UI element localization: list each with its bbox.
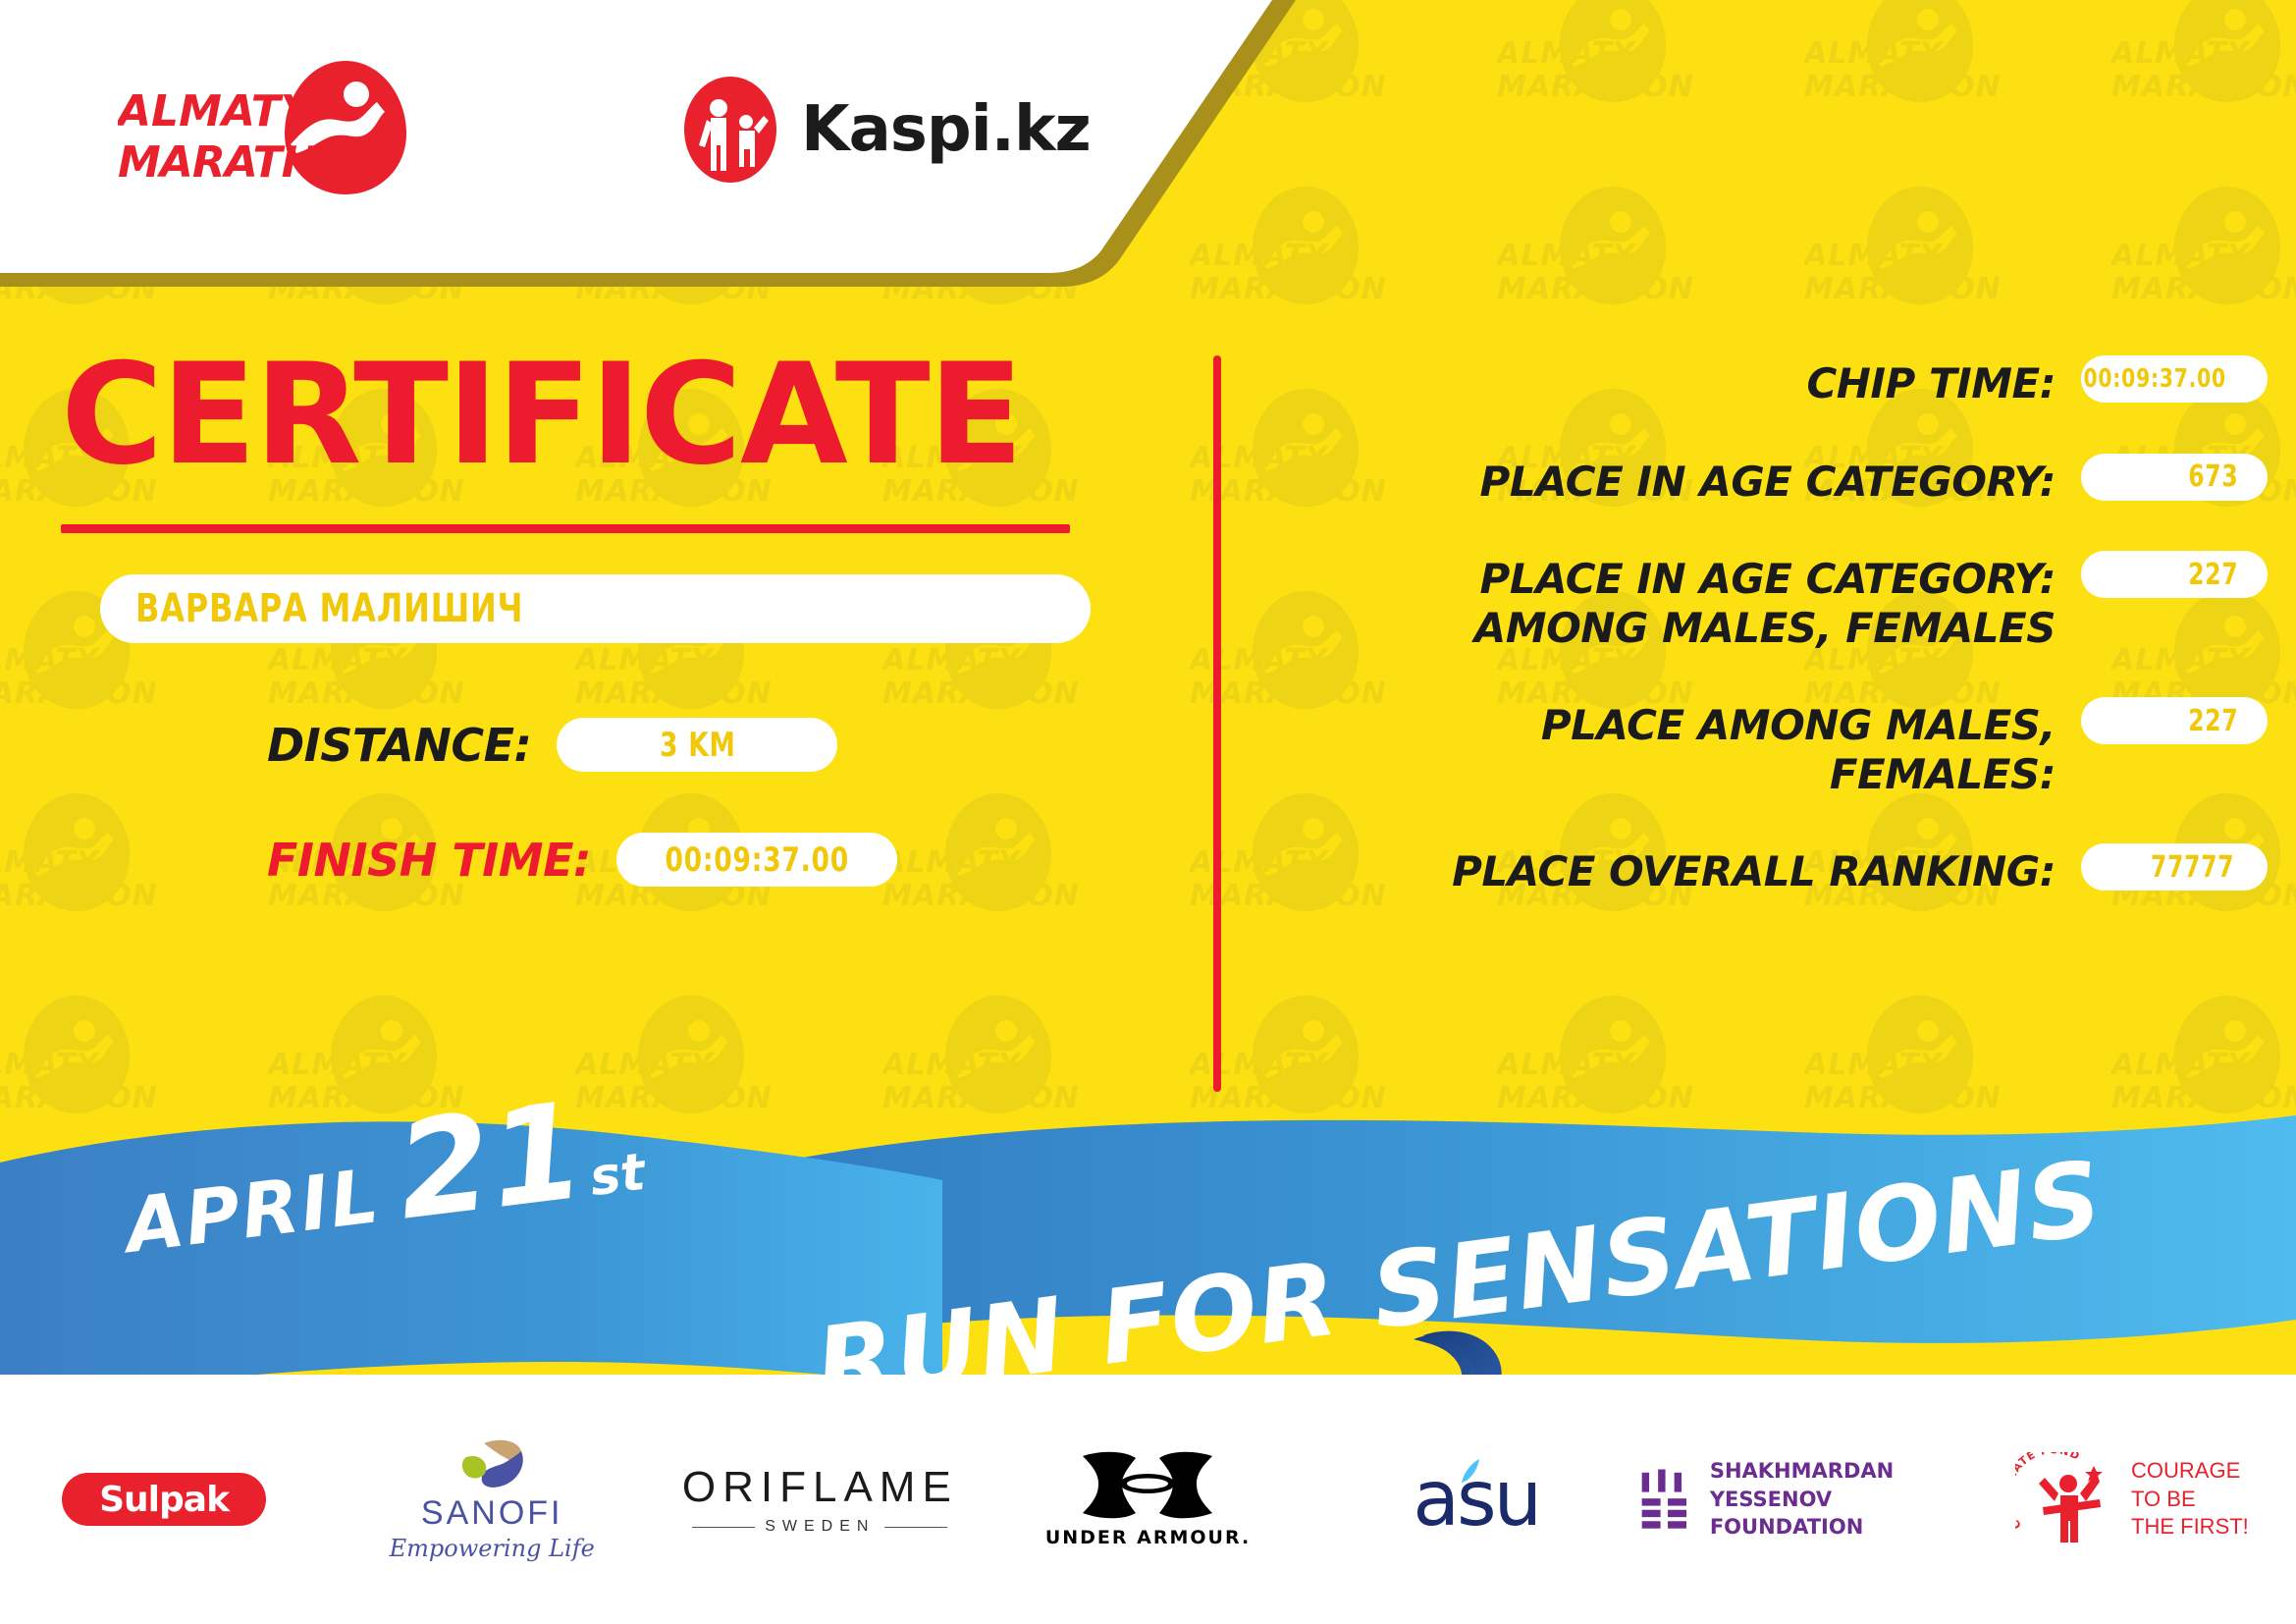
place-age-category-row: PLACE IN AGE CATEGORY: 673 (1276, 454, 2268, 507)
yessenov-line2: FOUNDATION (1710, 1515, 1863, 1539)
sulpak-wordmark: Sulpak (99, 1480, 229, 1520)
svg-text:ALMATY: ALMATY (118, 86, 316, 136)
sponsor-oriflame: ORIFLAME SWEDEN (656, 1463, 984, 1536)
sponsor-sanofi: SANOFI Empowering Life (328, 1437, 656, 1562)
title-divider (61, 524, 1070, 533)
chip-time-field: 00:09:37.00 (2081, 355, 2268, 403)
chip-time-label: CHIP TIME: (1276, 355, 2056, 408)
sponsor-under-armour: UNDER ARMOUR. (984, 1450, 1311, 1548)
oriflame-tagline: SWEDEN (765, 1518, 875, 1536)
results-column: CHIP TIME: 00:09:37.00 PLACE IN AGE CATE… (1276, 355, 2268, 942)
distance-row: DISTANCE: 3 KM (267, 718, 1178, 772)
recipient-name-field: ВАРВАРА МАЛИШИЧ (100, 574, 1091, 643)
place-age-category-label: PLACE IN AGE CATEGORY: (1276, 454, 2056, 507)
oriflame-rule-left (692, 1527, 755, 1528)
asu-swoosh-icon (1458, 1457, 1483, 1487)
finish-time-row: FINISH TIME: 00:09:37.00 (267, 833, 1178, 887)
courage-fund-line2: TO BE (2131, 1487, 2196, 1511)
event-day-suffix: st (587, 1143, 649, 1208)
chip-time-value: 00:09:37.00 (2083, 364, 2225, 394)
sponsor-bar: Sulpak SANOFI Empowering Life ORIFLAME S… (0, 1375, 2296, 1624)
column-divider (1213, 355, 1221, 1092)
svg-text:MARATHON: MARATHON (118, 137, 388, 188)
oriflame-logo: ORIFLAME SWEDEN (682, 1463, 958, 1536)
under-armour-logo: UNDER ARMOUR. (1045, 1450, 1251, 1548)
place-age-category-gender-value: 227 (2189, 558, 2239, 592)
oriflame-wordmark: ORIFLAME (682, 1463, 958, 1512)
yessenov-logo: SHAKHMARDAN YESSENOV FOUNDATION (1640, 1457, 1968, 1541)
yessenov-mark-icon (1640, 1463, 1690, 1536)
courage-fund-line1: COURAGE (2131, 1458, 2240, 1483)
yessenov-wordmark: SHAKHMARDAN YESSENOV FOUNDATION (1710, 1457, 1968, 1541)
place-overall-value: 77777 (2151, 850, 2234, 885)
place-age-category-value: 673 (2189, 460, 2239, 494)
oriflame-subline: SWEDEN (692, 1518, 947, 1536)
place-overall-row: PLACE OVERALL RANKING: 77777 (1276, 843, 2268, 896)
finish-time-value: 00:09:37.00 (665, 840, 848, 880)
place-age-category-gender-label: PLACE IN AGE CATEGORY: AMONG MALES, FEMA… (1276, 551, 2056, 652)
distance-label: DISTANCE: (267, 719, 531, 772)
courage-fund-mark-icon: CORPORATE FUND (2015, 1452, 2117, 1546)
header-logos: ALMATY MARATHON Kaspi.kz (0, 0, 1129, 245)
oriflame-rule-right (884, 1527, 947, 1528)
sponsor-asu: asu (1312, 1461, 1640, 1538)
sanofi-wordmark: SANOFI (421, 1494, 563, 1533)
left-column: CERTIFICATE ВАРВАРА МАЛИШИЧ DISTANCE: 3 … (0, 295, 1178, 887)
almaty-marathon-logo: ALMATY MARATHON (118, 57, 432, 194)
sponsor-sulpak: Sulpak (0, 1473, 328, 1526)
recipient-name-value: ВАРВАРА МАЛИШИЧ (135, 586, 523, 631)
kaspi-logo: Kaspi.kz (677, 77, 1091, 183)
asu-logo: asu (1413, 1461, 1539, 1538)
courage-fund-line3: THE FIRST! (2131, 1514, 2249, 1539)
place-among-gender-value: 227 (2189, 704, 2239, 738)
under-armour-wordmark: UNDER ARMOUR. (1045, 1527, 1251, 1548)
place-age-category-gender-field: 227 (2081, 551, 2268, 598)
place-overall-label: PLACE OVERALL RANKING: (1276, 843, 2056, 896)
sulpak-logo: Sulpak (62, 1473, 266, 1526)
finish-time-field: 00:09:37.00 (616, 833, 897, 887)
distance-field: 3 KM (557, 718, 837, 772)
chip-time-row: CHIP TIME: 00:09:37.00 (1276, 355, 2268, 408)
place-age-category-field: 673 (2081, 454, 2268, 501)
under-armour-mark-icon (1079, 1450, 1216, 1521)
courage-fund-logo: CORPORATE FUND COURAGE TO BE THE FIRST! (2015, 1452, 2249, 1546)
place-among-gender-label: PLACE AMONG MALES, FEMALES: (1276, 697, 2056, 798)
place-age-category-gender-row: PLACE IN AGE CATEGORY: AMONG MALES, FEMA… (1276, 551, 2268, 652)
finish-time-label: FINISH TIME: (267, 834, 591, 887)
certificate-page: ALMATY MARATHON ALMATY (0, 0, 2296, 1624)
sponsor-yessenov-foundation: SHAKHMARDAN YESSENOV FOUNDATION (1640, 1457, 1968, 1541)
sanofi-mark-icon (454, 1437, 529, 1492)
event-day: 21 (391, 1085, 591, 1240)
kaspi-wordmark: Kaspi.kz (801, 98, 1091, 161)
sponsor-courage-fund: CORPORATE FUND COURAGE TO BE THE FIRST! (1968, 1452, 2296, 1546)
courage-fund-wordmark: COURAGE TO BE THE FIRST! (2131, 1457, 2249, 1542)
place-among-gender-field: 227 (2081, 697, 2268, 744)
distance-value: 3 KM (660, 726, 736, 765)
sanofi-logo: SANOFI Empowering Life (390, 1437, 595, 1562)
place-overall-field: 77777 (2081, 843, 2268, 891)
sanofi-tagline: Empowering Life (390, 1535, 595, 1562)
kaspi-mark-icon (677, 77, 783, 183)
yessenov-line1: SHAKHMARDAN YESSENOV (1710, 1459, 1894, 1510)
page-title: CERTIFICATE (61, 346, 1178, 485)
place-among-gender-row: PLACE AMONG MALES, FEMALES: 227 (1276, 697, 2268, 798)
